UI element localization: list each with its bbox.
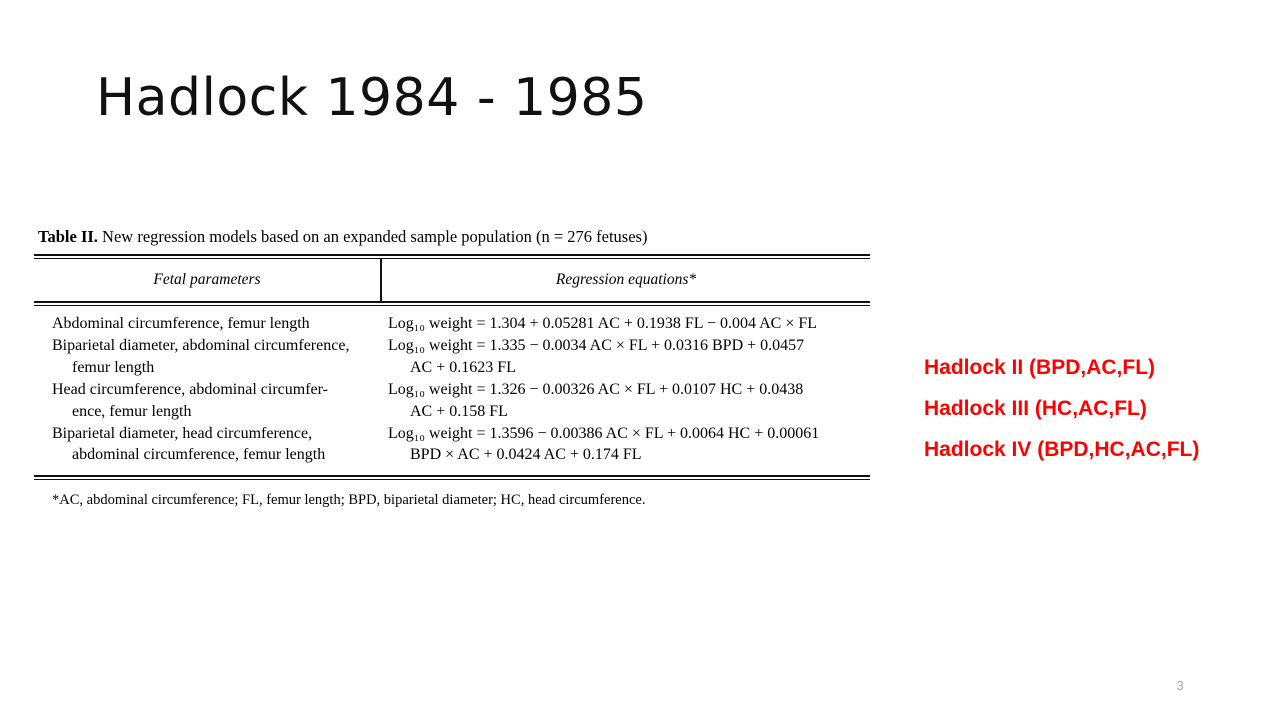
cell-line: AC + 0.1623 FL bbox=[388, 357, 870, 379]
cell-line: femur length bbox=[52, 357, 380, 379]
cell-line: AC + 0.158 FL bbox=[388, 401, 870, 423]
cell-line: Head circumference, abdominal circumfer- bbox=[52, 379, 380, 401]
page-title: Hadlock 1984 - 1985 bbox=[96, 68, 647, 128]
cell-line: Log₁₀ weight = 1.326 − 0.00326 AC × FL +… bbox=[388, 379, 870, 401]
table-row: Biparietal diameter, head circumference,… bbox=[34, 423, 870, 467]
annotation-hadlock-iv: Hadlock IV (BPD,HC,AC,FL) bbox=[924, 430, 1276, 471]
cell-regression-equation: Log₁₀ weight = 1.3596 − 0.00386 AC × FL … bbox=[380, 423, 870, 467]
column-header-fetal-parameters: Fetal parameters bbox=[34, 259, 380, 301]
cell-line: Log₁₀ weight = 1.3596 − 0.00386 AC × FL … bbox=[388, 423, 870, 445]
cell-line: BPD × AC + 0.0424 AC + 0.174 FL bbox=[388, 444, 870, 466]
slide: Hadlock 1984 - 1985 Table II. New regres… bbox=[0, 0, 1280, 720]
cell-fetal-parameters: Biparietal diameter, head circumference,… bbox=[34, 423, 380, 467]
cell-regression-equation: Log₁₀ weight = 1.304 + 0.05281 AC + 0.19… bbox=[380, 313, 870, 335]
table-caption: Table II. New regression models based on… bbox=[34, 228, 870, 247]
cell-line: abdominal circumference, femur length bbox=[52, 444, 380, 466]
slide-number: 3 bbox=[1168, 678, 1192, 693]
cell-fetal-parameters: Head circumference, abdominal circumfer-… bbox=[34, 379, 380, 423]
cell-line: Biparietal diameter, abdominal circumfer… bbox=[52, 335, 380, 357]
annotation-hadlock-ii: Hadlock II (BPD,AC,FL) bbox=[924, 348, 1276, 389]
table-caption-label: Table II. bbox=[38, 227, 98, 246]
table-row: Abdominal circumference, femur length Lo… bbox=[34, 313, 870, 335]
cell-line: Abdominal circumference, femur length bbox=[52, 313, 380, 335]
cell-line: ence, femur length bbox=[52, 401, 380, 423]
column-header-regression-equations: Regression equations* bbox=[380, 259, 870, 301]
table-header-row: Fetal parameters Regression equations* bbox=[34, 259, 870, 301]
cell-line: Biparietal diameter, head circumference, bbox=[52, 423, 380, 445]
annotation-hadlock-iii: Hadlock III (HC,AC,FL) bbox=[924, 389, 1276, 430]
table-row: Biparietal diameter, abdominal circumfer… bbox=[34, 335, 870, 379]
table-figure: Table II. New regression models based on… bbox=[34, 228, 870, 510]
column-header-label: Regression equations* bbox=[556, 271, 696, 289]
table-footnote: *AC, abdominal circumference; FL, femur … bbox=[34, 480, 870, 509]
cell-fetal-parameters: Biparietal diameter, abdominal circumfer… bbox=[34, 335, 380, 379]
table-row: Head circumference, abdominal circumfer-… bbox=[34, 379, 870, 423]
table-body: Abdominal circumference, femur length Lo… bbox=[34, 306, 870, 475]
column-header-label: Fetal parameters bbox=[153, 271, 260, 289]
annotation-list: Hadlock II (BPD,AC,FL) Hadlock III (HC,A… bbox=[924, 348, 1276, 471]
cell-regression-equation: Log₁₀ weight = 1.326 − 0.00326 AC × FL +… bbox=[380, 379, 870, 423]
cell-regression-equation: Log₁₀ weight = 1.335 − 0.0034 AC × FL + … bbox=[380, 335, 870, 379]
cell-fetal-parameters: Abdominal circumference, femur length bbox=[34, 313, 380, 335]
table-caption-text: New regression models based on an expand… bbox=[102, 227, 647, 246]
cell-line: Log₁₀ weight = 1.304 + 0.05281 AC + 0.19… bbox=[388, 313, 870, 335]
cell-line: Log₁₀ weight = 1.335 − 0.0034 AC × FL + … bbox=[388, 335, 870, 357]
